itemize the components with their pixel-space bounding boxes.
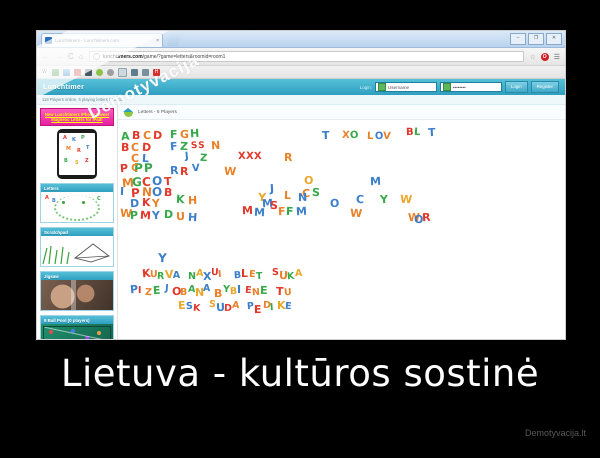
bookmark-icon[interactable] xyxy=(107,69,114,76)
breadcrumb-text: 118 Players online, 6 playing letters / … xyxy=(42,97,123,102)
magnet-letter[interactable]: D xyxy=(164,209,174,220)
magnet-letter[interactable]: C xyxy=(143,130,152,141)
minimize-icon[interactable]: – xyxy=(510,33,526,45)
magnet-letter[interactable]: S xyxy=(270,200,278,211)
magnet-letter[interactable]: E xyxy=(259,285,267,296)
magnet-letter[interactable]: A xyxy=(203,284,211,294)
bookmark-icon[interactable] xyxy=(96,69,103,76)
forward-icon[interactable]: → xyxy=(55,53,63,61)
sidebar-item-8-ball-pool[interactable]: 8 Ball Pool (0 players) xyxy=(40,315,114,340)
bookmarks-bar: W H xyxy=(37,66,565,79)
bookmark-icon[interactable] xyxy=(131,69,138,76)
magnet-letter[interactable]: Y xyxy=(152,210,161,221)
magnet-letter[interactable]: S xyxy=(191,142,198,151)
magnet-letter[interactable]: I xyxy=(237,284,241,295)
magnet-letter[interactable]: Y xyxy=(158,252,167,264)
magnet-letter[interactable]: V xyxy=(192,164,200,174)
browser-tab[interactable]: Lunchtimers - Lunchtimers.com × xyxy=(41,33,163,47)
magnet-letter[interactable]: S xyxy=(272,268,279,278)
magnet-letter[interactable]: O xyxy=(304,175,314,186)
bookmark-icon[interactable]: W xyxy=(41,69,48,76)
browser-navbar: ← → C ⌂ lunchtimers.com/game/?game=lette… xyxy=(37,48,565,66)
bookmark-star-icon[interactable]: ☆ xyxy=(529,53,535,61)
magnet-letter[interactable]: F xyxy=(170,129,178,140)
sidebar-item-label: 8 Ball Pool (0 players) xyxy=(41,316,113,324)
bookmark-icon[interactable] xyxy=(52,69,59,76)
password-input[interactable]: •••••••• xyxy=(440,82,502,92)
address-bar[interactable]: lunchtimers.com/game/?game=letters&roomi… xyxy=(89,51,525,62)
magnet-letter[interactable]: P xyxy=(130,210,138,221)
sidebar-thumb-letters: A B C xyxy=(41,192,113,222)
magnet-letter[interactable]: T xyxy=(256,272,263,282)
wrench-icon[interactable]: ☰ xyxy=(554,53,560,61)
browser-window: Lunchtimers - Lunchtimers.com × – ❐ ✕ ← … xyxy=(36,30,566,340)
tab-close-icon[interactable]: × xyxy=(156,38,159,44)
url-host: lunchtimers.com xyxy=(103,54,143,60)
sidebar-item-label: Scratchpad xyxy=(41,228,113,236)
magnet-letter[interactable]: J xyxy=(165,284,169,294)
magnet-letter[interactable]: M xyxy=(370,176,382,188)
magnet-letter[interactable]: R xyxy=(284,152,293,163)
browser-titlebar: Lunchtimers - Lunchtimers.com × – ❐ ✕ xyxy=(37,31,565,48)
bookmark-icon[interactable]: H xyxy=(153,69,160,76)
site-body: New Lunchtimers iPhone Game! Magnetic Le… xyxy=(37,105,565,340)
site-brand[interactable]: Lunchtimer xyxy=(43,84,84,91)
site-header: Lunchtimer Login: Username •••••••• Logi… xyxy=(37,79,565,95)
magnet-letter[interactable]: M xyxy=(140,210,152,222)
bookmark-icon[interactable] xyxy=(118,68,127,77)
magnet-letter[interactable]: C xyxy=(131,164,139,175)
ad-line-2: Magnetic Letters for iPad! xyxy=(51,117,102,122)
magnet-letter[interactable]: L xyxy=(284,190,291,201)
magnet-letter[interactable]: O xyxy=(330,198,340,209)
password-value: •••••••• xyxy=(453,85,466,90)
username-input[interactable]: Username xyxy=(375,82,437,92)
magnet-letter[interactable]: S xyxy=(312,187,321,199)
register-button[interactable]: Register xyxy=(531,81,559,93)
bookmark-icon[interactable] xyxy=(142,69,149,76)
magnet-letter[interactable]: R xyxy=(180,166,189,177)
reload-icon[interactable]: C xyxy=(68,53,74,61)
magnet-letter[interactable]: H xyxy=(188,212,198,223)
page-title: Lietuva - kultūros sostinė xyxy=(0,352,600,395)
home-icon[interactable]: ⌂ xyxy=(79,53,84,61)
magnet-letter[interactable]: L xyxy=(241,268,248,279)
sidebar-item-label: Letters xyxy=(41,184,113,192)
magnet-letter[interactable]: X xyxy=(254,152,262,162)
bookmark-icon[interactable] xyxy=(63,69,70,76)
magnet-letter[interactable]: H xyxy=(188,195,198,206)
magnet-letter[interactable]: A xyxy=(173,271,180,281)
magnet-letter[interactable]: D xyxy=(153,130,163,141)
login-label: Login: xyxy=(360,85,372,90)
magnet-letter[interactable]: H xyxy=(190,128,200,139)
sidebar-item-scratchpad[interactable]: Scratchpad xyxy=(40,227,114,267)
magnet-letter[interactable]: U xyxy=(176,211,186,222)
magnet-letter[interactable]: M xyxy=(296,206,308,218)
magnet-letter[interactable]: T xyxy=(428,127,436,138)
magnet-letter[interactable]: Y xyxy=(152,198,161,210)
magnet-letter[interactable]: F xyxy=(286,206,294,217)
magnet-letter[interactable]: I xyxy=(218,270,222,280)
sidebar: New Lunchtimers iPhone Game! Magnetic Le… xyxy=(37,105,117,340)
magnet-letter[interactable]: V xyxy=(383,132,391,142)
magnet-letter[interactable]: B xyxy=(164,187,173,199)
magnet-letter[interactable]: Z xyxy=(145,288,152,298)
magnet-letter[interactable]: K xyxy=(142,197,151,208)
magnet-letter[interactable]: R xyxy=(157,272,165,282)
magnet-letter[interactable]: I xyxy=(120,186,124,197)
magnet-letter[interactable]: K xyxy=(176,194,185,205)
board-title: Letters - 6 Players xyxy=(138,110,177,115)
magnet-letter[interactable]: U xyxy=(284,288,293,298)
bookmark-icon[interactable] xyxy=(85,69,92,76)
smiley-icon xyxy=(54,195,100,221)
sidebar-item-letters[interactable]: Letters A B C xyxy=(40,183,114,223)
bookmark-icon[interactable] xyxy=(74,69,81,76)
credit-text: Demotyvacija.lt xyxy=(525,428,586,438)
magnet-letter[interactable]: Z xyxy=(200,154,208,164)
magnet-letter[interactable]: X xyxy=(342,131,350,141)
username-value: Username xyxy=(388,85,409,90)
opera-icon[interactable]: O xyxy=(541,53,549,61)
sidebar-item-jigsaw[interactable]: Jigsaw xyxy=(40,271,114,311)
magnet-letter[interactable]: M xyxy=(242,205,253,216)
magnet-letter[interactable]: G xyxy=(180,129,190,141)
board-header: Letters - 6 Players xyxy=(118,105,565,120)
magnet-letter[interactable]: E xyxy=(178,300,186,312)
login-bar: Login: Username •••••••• Login Register xyxy=(360,81,559,93)
magnet-letter[interactable]: L xyxy=(367,132,374,142)
tab-title: Lunchtimers - Lunchtimers.com xyxy=(55,38,153,43)
sidebar-thumb-jigsaw xyxy=(41,280,113,310)
magnet-letter[interactable]: O xyxy=(350,131,359,141)
magnet-letter[interactable]: R xyxy=(422,212,431,223)
ad-banner[interactable]: New Lunchtimers iPhone Game! Magnetic Le… xyxy=(40,108,114,126)
magnet-letter[interactable]: F xyxy=(278,206,286,217)
magnet-letter[interactable]: W xyxy=(350,208,363,220)
sidebar-thumb-pool xyxy=(41,324,113,340)
lock-icon xyxy=(443,83,451,91)
magnet-letter[interactable]: B xyxy=(121,142,130,153)
lunchtimer-logo-icon xyxy=(123,108,134,117)
globe-icon xyxy=(93,53,100,60)
magnet-letter[interactable]: P xyxy=(120,163,129,175)
scratch-drawing-icon xyxy=(41,236,113,266)
magnet-letter[interactable]: C xyxy=(356,194,364,205)
close-icon[interactable]: ✕ xyxy=(546,33,562,45)
magnet-letter[interactable]: B xyxy=(214,288,223,299)
sidebar-thumb-scratchpad xyxy=(41,236,113,266)
magnet-letter[interactable]: S xyxy=(198,142,205,151)
url-text: lunchtimers.com/game/?game=letters&roomi… xyxy=(103,54,226,60)
magnet-letter[interactable]: K xyxy=(287,272,295,282)
breadcrumb: 118 Players online, 6 playing letters / … xyxy=(37,95,565,105)
magnet-letter[interactable]: E xyxy=(152,285,160,296)
magnet-letter[interactable]: X xyxy=(238,152,246,162)
website: Lunchtimer Login: Username •••••••• Logi… xyxy=(37,79,565,340)
magnet-letter[interactable]: X xyxy=(246,152,254,162)
url-path: /game/?game=letters&roomid=room1 xyxy=(143,54,226,60)
maximize-icon[interactable]: ❐ xyxy=(528,33,544,45)
user-icon xyxy=(378,83,386,91)
magnet-letter[interactable]: I xyxy=(269,303,273,313)
magnet-letter[interactable]: W xyxy=(224,166,237,178)
poster: Lunchtimers - Lunchtimers.com × – ❐ ✕ ← … xyxy=(0,0,600,458)
magnet-letter[interactable]: B xyxy=(180,288,187,298)
magnet-letter[interactable]: N xyxy=(211,140,221,151)
magnet-letter[interactable]: Y xyxy=(380,194,389,205)
back-icon[interactable]: ← xyxy=(42,53,50,61)
magnet-letter[interactable]: L xyxy=(414,128,421,138)
phone-screen: A K P M R T B S Z xyxy=(59,133,95,175)
magnet-letter[interactable]: J xyxy=(270,183,275,194)
login-button[interactable]: Login xyxy=(505,81,528,93)
new-tab-icon[interactable] xyxy=(167,35,181,46)
magnet-letter[interactable]: B xyxy=(132,130,141,141)
magnet-letter[interactable]: P xyxy=(144,162,153,174)
magnet-letter[interactable]: W xyxy=(400,194,413,206)
game-board[interactable]: Letters - 6 Players ABCDFGHBCDFZSSNCLJZX… xyxy=(117,105,565,340)
magnet-letter[interactable]: B xyxy=(406,128,414,138)
magnet-letter[interactable]: N xyxy=(298,192,308,203)
magnet-letter[interactable]: T xyxy=(322,130,330,141)
sidebar-item-label: Jigsaw xyxy=(41,272,113,280)
letters-canvas[interactable]: ABCDFGHBCDFZSSNCLJZXXXRPPPCRRVWTXOLOVBLT… xyxy=(118,120,565,340)
magnet-letter[interactable]: J xyxy=(184,152,189,162)
magnet-letter[interactable]: E xyxy=(285,302,292,312)
magnet-letter[interactable]: Y xyxy=(222,285,229,295)
magnet-letter[interactable]: K xyxy=(193,304,201,314)
window-controls: – ❐ ✕ xyxy=(510,33,562,45)
magnet-letter[interactable]: I xyxy=(138,286,142,296)
magnet-letter[interactable]: E xyxy=(254,304,262,315)
magnet-letter[interactable]: A xyxy=(231,301,239,311)
phone-image: A K P M R T B S Z xyxy=(57,129,97,179)
magnet-letter[interactable]: A xyxy=(295,269,303,279)
magnet-letter[interactable]: F xyxy=(170,141,178,153)
tab-favicon-icon xyxy=(45,37,52,44)
